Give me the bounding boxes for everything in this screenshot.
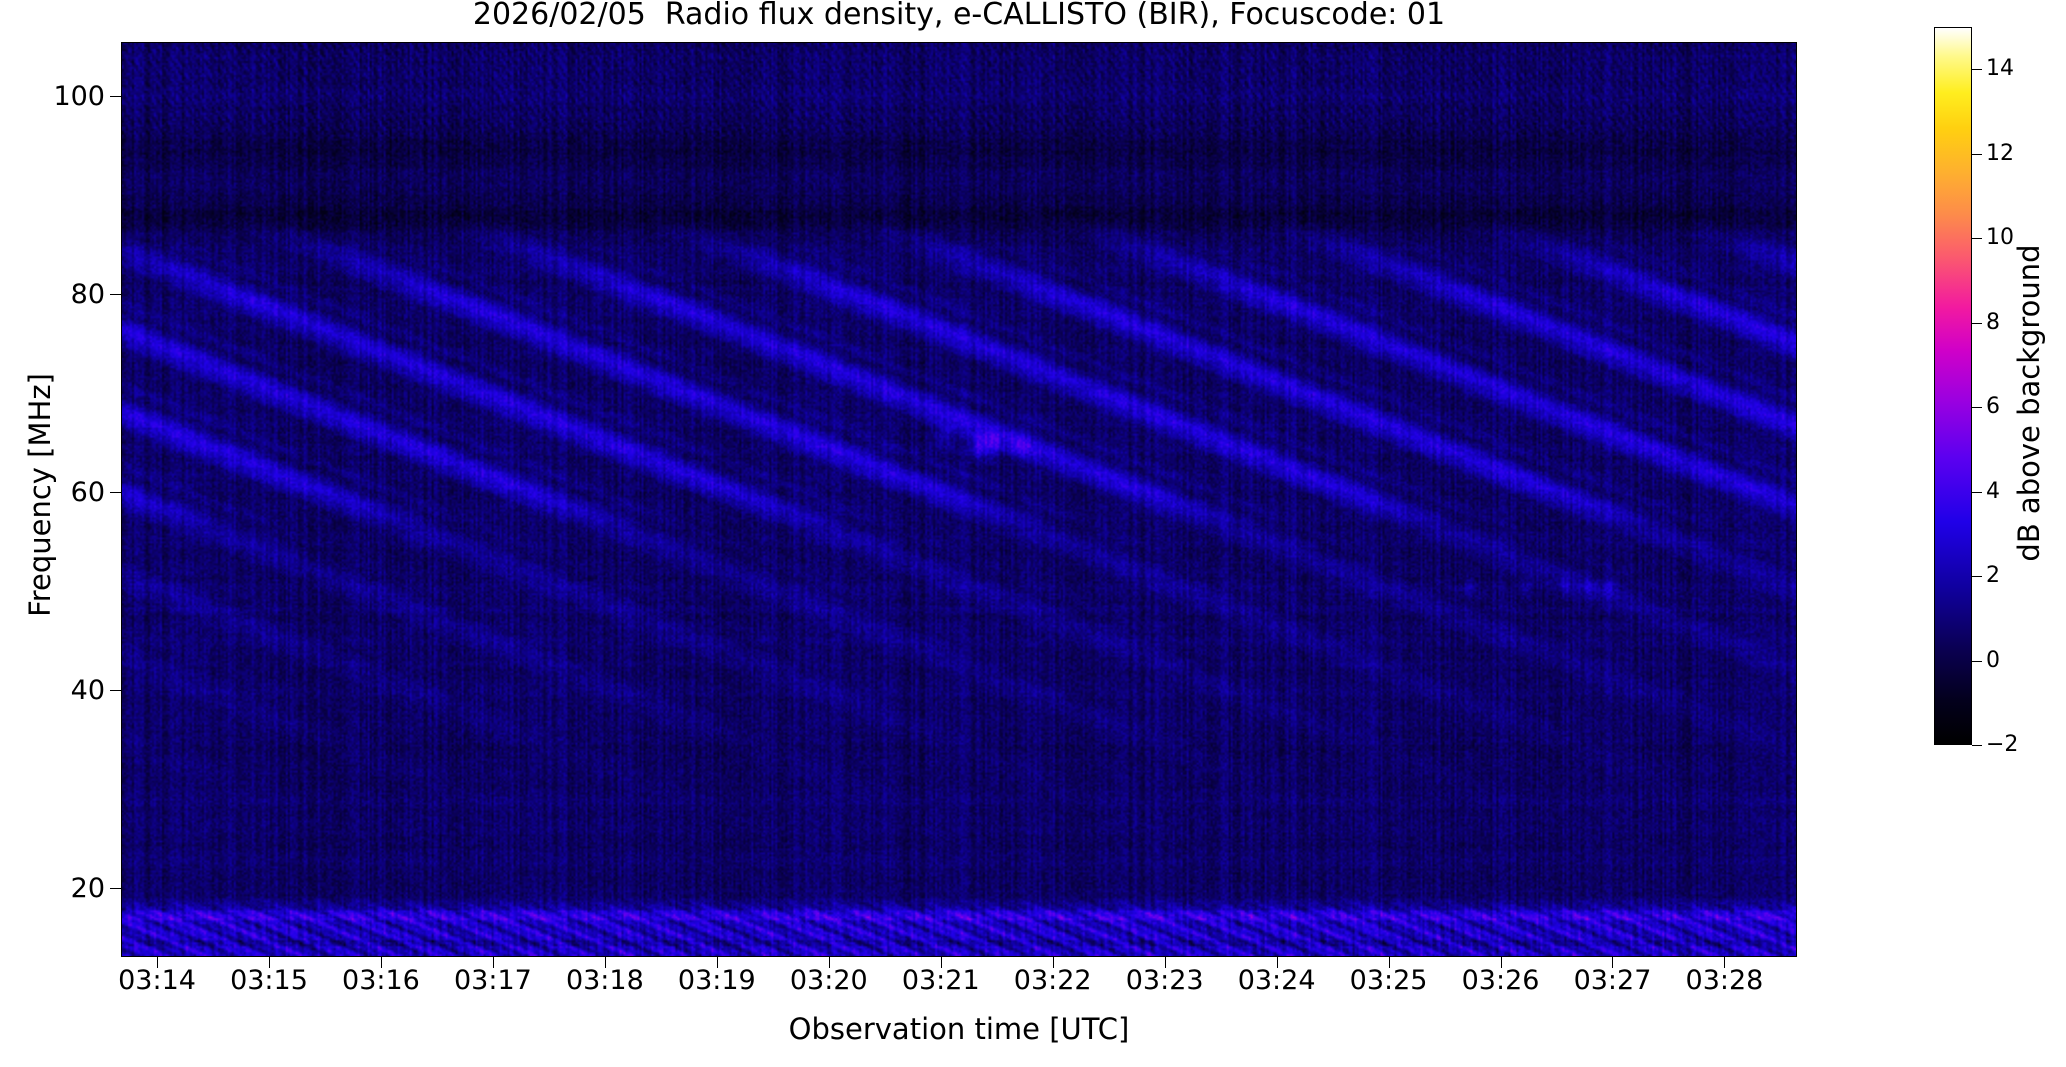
page-title: 2026/02/05 Radio flux density, e-CALLIST… (121, 0, 1797, 32)
colorbar-tick-label: −2 (1986, 734, 2018, 756)
x-tick-mark (605, 957, 606, 968)
x-tick-mark (1389, 957, 1390, 968)
y-tick-label: 100 (0, 83, 105, 110)
x-tick-mark (829, 957, 830, 968)
colorbar-tick-mark (1972, 238, 1982, 239)
colorbar-tick-mark (1972, 745, 1982, 746)
x-tick-mark (493, 957, 494, 968)
y-tick-mark (110, 96, 121, 97)
spectrogram-heatmap-canvas (122, 43, 1796, 956)
y-tick-label: 20 (0, 875, 105, 902)
x-tick-mark (1501, 957, 1502, 968)
x-tick-mark (1165, 957, 1166, 968)
colorbar-tick-label: 0 (1986, 650, 2000, 672)
colorbar-label: dB above background (2012, 44, 2046, 762)
x-tick-mark (157, 957, 158, 968)
y-tick-mark (110, 690, 121, 691)
colorbar-tick-mark (1972, 661, 1982, 662)
colorbar-tick-label: 14 (1986, 58, 2014, 80)
spectrogram-axes (121, 42, 1797, 957)
y-tick-label: 40 (0, 677, 105, 704)
colorbar-tick-label: 2 (1986, 565, 2000, 587)
y-tick-mark (110, 888, 121, 889)
x-axis-label: Observation time [UTC] (121, 1012, 1797, 1046)
x-tick-mark (269, 957, 270, 968)
colorbar-tick-label: 12 (1986, 143, 2014, 165)
x-tick-mark (1612, 957, 1613, 968)
colorbar-tick-mark (1972, 154, 1982, 155)
colorbar-tick-label: 6 (1986, 396, 2000, 418)
colorbar-tick-mark (1972, 492, 1982, 493)
x-tick-mark (717, 957, 718, 968)
y-tick-mark (110, 492, 121, 493)
x-tick-label: 03:28 (1629, 966, 1819, 996)
y-tick-mark (110, 294, 121, 295)
x-tick-mark (381, 957, 382, 968)
colorbar-tick-mark (1972, 69, 1982, 70)
colorbar-tick-label: 10 (1986, 227, 2014, 249)
x-tick-mark (1277, 957, 1278, 968)
colorbar-tick-mark (1972, 407, 1982, 408)
colorbar-tick-label: 4 (1986, 481, 2000, 503)
x-tick-mark (941, 957, 942, 968)
y-tick-label: 80 (0, 281, 105, 308)
colorbar-tick-label: 8 (1986, 312, 2000, 334)
colorbar-tick-mark (1972, 576, 1982, 577)
x-tick-mark (1724, 957, 1725, 968)
x-tick-mark (1053, 957, 1054, 968)
colorbar-tick-mark (1972, 323, 1982, 324)
y-tick-label: 60 (0, 479, 105, 506)
colorbar-gradient (1934, 27, 1972, 745)
